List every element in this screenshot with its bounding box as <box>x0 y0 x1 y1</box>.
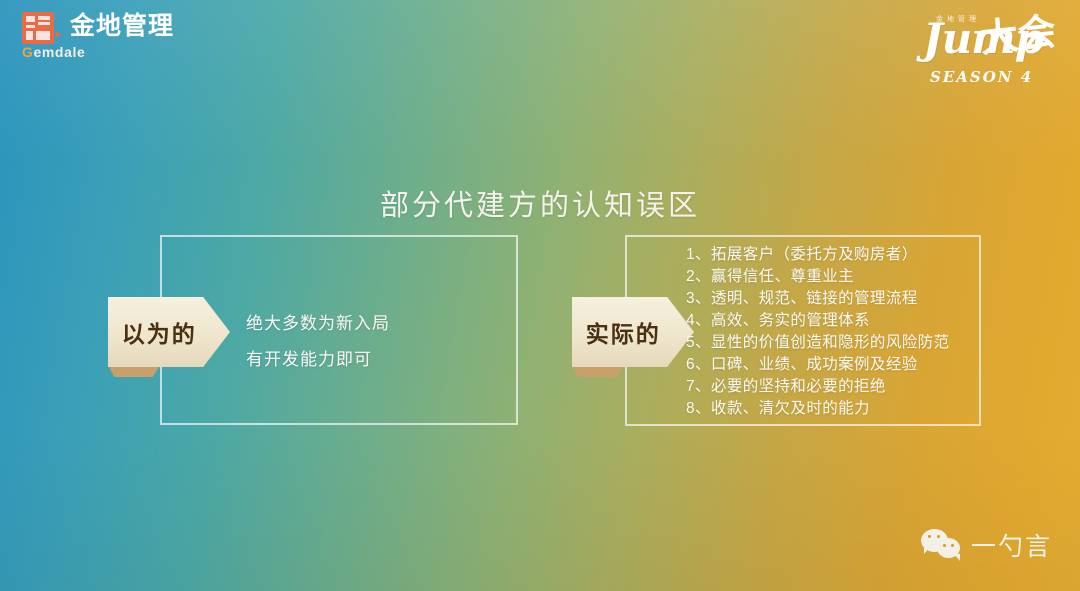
jump-season-label: SEASON 4 <box>930 68 1033 86</box>
presentation-slide: 金地管理 Gemdale 金地管理 Jump 大会 SEASON 4 部分代建方… <box>0 0 1080 591</box>
left-body-text: 绝大多数为新入局 有开发能力即可 <box>246 306 390 378</box>
jump-cn-mark: 大会 <box>978 12 1058 58</box>
list-item: 4、高效、务实的管理体系 <box>686 310 949 332</box>
brand-lockup: 金地管理 Gemdale <box>22 12 174 60</box>
left-arrow-tag-label: 以为的 <box>108 297 210 367</box>
left-body-line: 有开发能力即可 <box>246 342 390 378</box>
page-title: 部分代建方的认知误区 <box>0 182 1080 224</box>
list-item: 3、透明、规范、链接的管理流程 <box>686 288 949 310</box>
list-item: 7、必要的坚持和必要的拒绝 <box>686 376 949 398</box>
left-arrow-tag: 以为的 <box>108 297 230 367</box>
right-arrow-tag-label: 实际的 <box>572 297 674 367</box>
jump-event-logo: 金地管理 Jump 大会 SEASON 4 <box>908 10 1058 92</box>
wechat-account-badge: 一勺言 <box>921 527 1052 563</box>
right-list: 1、拓展客户（委托方及购房者） 2、赢得信任、尊重业主 3、透明、规范、链接的管… <box>686 244 949 420</box>
list-item: 8、收款、清欠及时的能力 <box>686 398 949 420</box>
wechat-account-name: 一勺言 <box>971 527 1052 563</box>
left-body-line: 绝大多数为新入局 <box>246 306 390 342</box>
list-item: 5、显性的价值创造和隐形的风险防范 <box>686 332 949 354</box>
gemdale-square-logo-icon <box>22 12 60 50</box>
brand-name-cn: 金地管理 <box>70 13 174 39</box>
wechat-icon <box>921 529 963 561</box>
list-item: 2、赢得信任、尊重业主 <box>686 266 949 288</box>
right-arrow-tag: 实际的 <box>572 297 694 367</box>
list-item: 6、口碑、业绩、成功案例及经验 <box>686 354 949 376</box>
list-item: 1、拓展客户（委托方及购房者） <box>686 244 949 266</box>
